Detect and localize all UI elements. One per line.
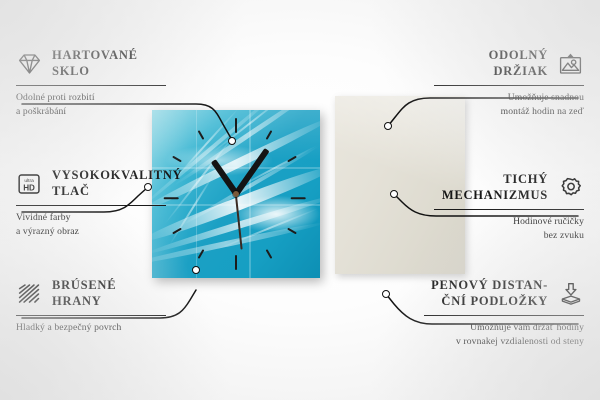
feature-high-quality-print[interactable]: ultra HD VYSOKOKVALITNÝ TLAČ Vividné far… <box>16 168 166 238</box>
feature-title-line: SKLO <box>52 64 138 80</box>
feature-description: Hladký a bezpečný povrch <box>16 321 166 335</box>
feature-title-line: HARTOVANÉ <box>52 48 138 64</box>
feature-header: BRÚSENÉ HRANY <box>16 278 166 310</box>
feature-title: PENOVÝ DISTAN- ČNÍ PODLOŽKY <box>431 278 548 310</box>
feature-title: VYSOKOKVALITNÝ TLAČ <box>52 168 182 200</box>
feature-divider <box>424 315 584 316</box>
feature-title-line: HRANY <box>52 294 116 310</box>
feature-description: Umožňuje snadnou montáž hodin na zeď <box>434 91 584 118</box>
feature-title-line: DRŽIAK <box>489 64 548 80</box>
feature-header: ultra HD VYSOKOKVALITNÝ TLAČ <box>16 168 166 200</box>
feature-description-line: v rovnakej vzdialenosti od steny <box>424 335 584 349</box>
feature-description-line: Hladký a bezpečný povrch <box>16 321 166 335</box>
feature-description: Vividné farby a výrazný obraz <box>16 211 166 238</box>
feature-title-line: BRÚSENÉ <box>52 278 116 294</box>
feature-toughened-glass[interactable]: HARTOVANÉ SKLO Odolné proti rozbití a po… <box>16 48 166 118</box>
wall-mount-picture-icon <box>557 52 584 76</box>
feature-title-line: PENOVÝ DISTAN- <box>431 278 548 294</box>
feature-description: Odolné proti rozbití a poškrábání <box>16 91 166 118</box>
feature-title-line: TLAČ <box>52 184 182 200</box>
feature-silent-mechanism[interactable]: TICHÝ MECHANIZMUS Hodinové ručičky bez z… <box>434 172 584 242</box>
feature-description-line: Umožňuje snadnou <box>434 91 584 105</box>
feature-header: HARTOVANÉ SKLO <box>16 48 166 80</box>
leader-dot-silent-mechanism <box>390 190 398 198</box>
feature-description: Umožňuje vám držať hodiny v rovnakej vzd… <box>424 321 584 348</box>
feature-description-line: montáž hodin na zeď <box>434 105 584 119</box>
leader-dot-foam-spacer <box>382 290 390 298</box>
feature-divider <box>434 85 584 86</box>
feature-durable-holder[interactable]: ODOLNÝ DRŽIAK Umožňuje snadnou montáž ho… <box>434 48 584 118</box>
feature-title-line: ČNÍ PODLOŽKY <box>431 294 548 310</box>
feature-divider <box>16 205 166 206</box>
feature-title-line: VYSOKOKVALITNÝ <box>52 168 182 184</box>
feature-divider <box>16 315 166 316</box>
feature-description: Hodinové ručičky bez zvuku <box>434 215 584 242</box>
gear-icon <box>557 176 584 200</box>
feature-title-line: TICHÝ <box>442 172 548 188</box>
feature-description-line: Vividné farby <box>16 211 166 225</box>
infographic-canvas: HARTOVANÉ SKLO Odolné proti rozbití a po… <box>0 0 600 400</box>
foam-spacer-icon <box>557 282 584 306</box>
leader-dot-brushed-edges <box>192 266 200 274</box>
feature-description-line: a výrazný obraz <box>16 225 166 239</box>
feature-description-line: Odolné proti rozbití <box>16 91 166 105</box>
feature-title: TICHÝ MECHANIZMUS <box>442 172 548 204</box>
brushed-edges-icon <box>16 282 43 306</box>
feature-description-line: Hodinové ručičky <box>434 215 584 229</box>
clock-center-cap <box>233 191 239 197</box>
feature-foam-spacers[interactable]: PENOVÝ DISTAN- ČNÍ PODLOŽKY Umožňuje vám… <box>424 278 584 348</box>
feature-description-line: a poškrábání <box>16 105 166 119</box>
feature-header: PENOVÝ DISTAN- ČNÍ PODLOŽKY <box>424 278 584 310</box>
feature-title-line: ODOLNÝ <box>489 48 548 64</box>
feature-title: HARTOVANÉ SKLO <box>52 48 138 80</box>
feature-title: ODOLNÝ DRŽIAK <box>489 48 548 80</box>
feature-brushed-edges[interactable]: BRÚSENÉ HRANY Hladký a bezpečný povrch <box>16 278 166 335</box>
feature-divider <box>16 85 166 86</box>
feature-description-line: Umožňuje vám držať hodiny <box>424 321 584 335</box>
feature-title-line: MECHANIZMUS <box>442 188 548 204</box>
feature-divider <box>434 209 584 210</box>
svg-text:HD: HD <box>23 183 35 192</box>
leader-dot-wall-mount <box>384 122 392 130</box>
feature-description-line: bez zvuku <box>434 229 584 243</box>
leader-dot-toughened-glass <box>228 137 236 145</box>
diamond-icon <box>16 52 43 76</box>
feature-title: BRÚSENÉ HRANY <box>52 278 116 310</box>
ultra-hd-icon: ultra HD <box>16 172 43 196</box>
feature-header: TICHÝ MECHANIZMUS <box>434 172 584 204</box>
feature-header: ODOLNÝ DRŽIAK <box>434 48 584 80</box>
